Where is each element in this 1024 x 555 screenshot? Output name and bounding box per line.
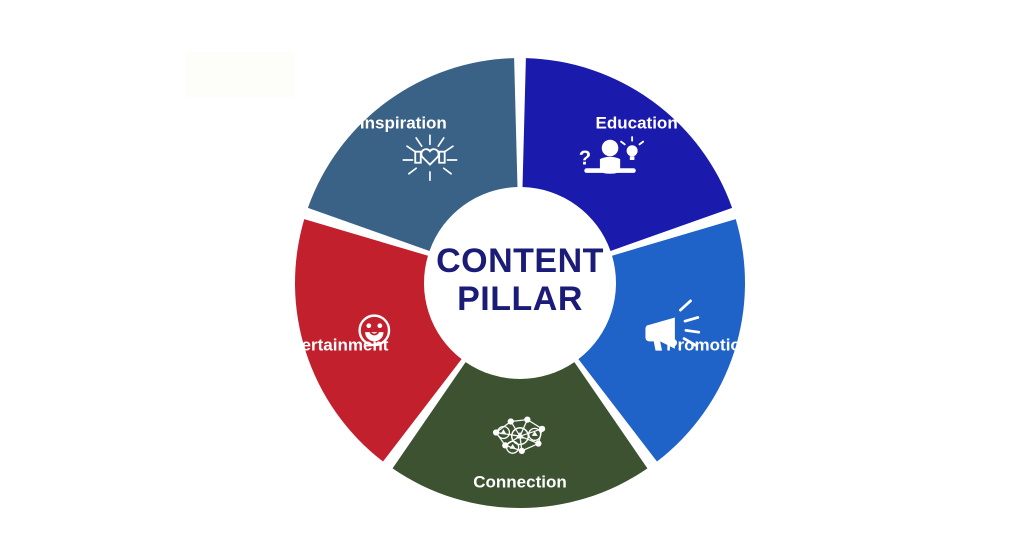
- segment-label-entertainment: Entertainment: [274, 335, 389, 354]
- segment-label-promotion: Promotion: [666, 335, 751, 354]
- content-pillar-wheel: ?: [0, 0, 1024, 555]
- center-title-line2: PILLAR: [457, 280, 583, 318]
- segment-label-connection: Connection: [473, 472, 567, 491]
- segment-label-inspiration: Inspiration: [360, 113, 447, 132]
- diagram-canvas: ?: [0, 0, 1024, 555]
- segment-label-education: Education: [596, 113, 678, 132]
- center-title-line1: CONTENT: [436, 242, 604, 280]
